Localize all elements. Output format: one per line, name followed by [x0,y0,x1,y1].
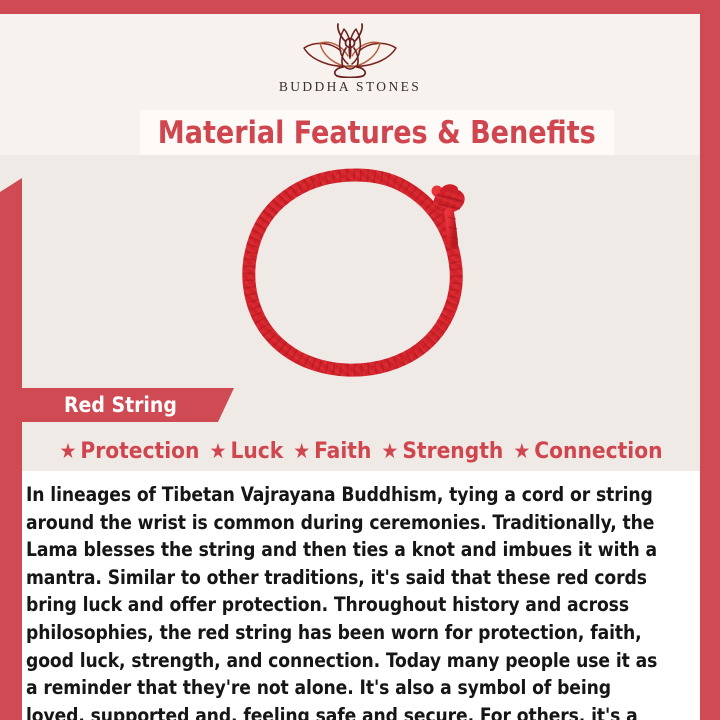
feature-label: Connection [534,438,662,464]
feature-list: ★ Protection ★ Luck ★ Faith ★ Strength ★… [22,432,700,470]
star-icon: ★ [59,441,76,462]
product-label: Red String [64,393,177,417]
infographic-poster: BUDDHA STONES Material Features & Benefi… [0,0,720,720]
brand-name: BUDDHA STONES [279,79,421,95]
feature-item-connection: ★ Connection [508,438,667,464]
feature-item-protection: ★ Protection [54,438,204,464]
feature-label: Strength [402,438,503,464]
page-title: Material Features & Benefits [158,115,596,151]
feature-label: Faith [314,438,371,464]
feature-item-strength: ★ Strength [376,438,508,464]
poster-canvas: BUDDHA STONES Material Features & Benefi… [0,14,700,720]
lotus-meditation-icon [298,18,402,78]
product-image-area [22,159,700,384]
description-block: In lineages of Tibetan Vajrayana Buddhis… [22,471,700,720]
brand-header: BUDDHA STONES [0,14,700,108]
feature-item-luck: ★ Luck [204,438,288,464]
star-icon: ★ [293,441,310,462]
star-icon: ★ [513,441,530,462]
title-banner: Material Features & Benefits [140,110,614,155]
star-icon: ★ [381,441,398,462]
product-label-banner: Red String [22,388,234,422]
feature-label: Protection [80,438,199,464]
feature-item-faith: ★ Faith [288,438,376,464]
feature-label: Luck [230,438,283,464]
red-braided-string-bracelet-icon [227,157,497,387]
top-red-border [0,0,720,14]
star-icon: ★ [209,441,226,462]
left-red-border [0,178,22,720]
description-text: In lineages of Tibetan Vajrayana Buddhis… [26,481,670,720]
right-red-border [700,14,720,720]
